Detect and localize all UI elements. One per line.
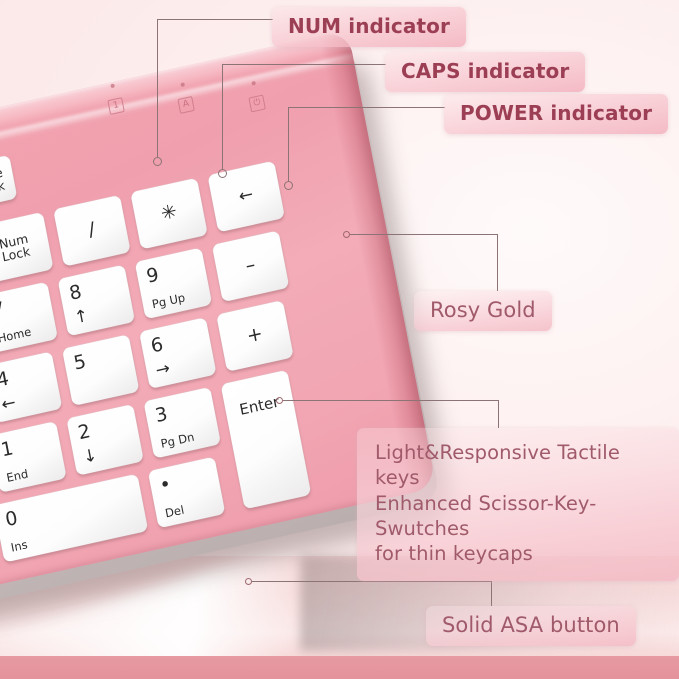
power-leader-horizontal (288, 107, 445, 108)
num-callout-marker (153, 157, 162, 166)
key-5[interactable]: 5 (62, 334, 139, 406)
num-led-dot (110, 83, 115, 88)
power-led-dot (251, 81, 256, 86)
key-label: 5 (72, 341, 133, 374)
callout-power-indicator[interactable]: POWER indicator (444, 94, 668, 134)
num-leader-horizontal (157, 19, 273, 20)
key-label: Enter (225, 391, 294, 421)
callout-num-indicator[interactable]: NUM indicator (272, 7, 466, 47)
num-leader-vertical (157, 19, 158, 157)
caps-led-dot (180, 82, 185, 87)
key-numlock[interactable]: Num Lock (0, 212, 54, 284)
key-label: ✳ (134, 195, 204, 229)
key-label: ← (211, 179, 281, 211)
bottom-color-band (0, 656, 679, 679)
key-1-end[interactable]: 1 End (0, 421, 67, 493)
rosy-gold-leader-vertical (497, 234, 498, 291)
key-label: – (215, 248, 285, 282)
key-plus[interactable]: + (216, 300, 293, 372)
tactile-keys-leader-horizontal (283, 400, 498, 401)
solid-asa-leader-vertical (491, 581, 492, 606)
key-sublabel: Home (0, 320, 57, 345)
key-label: 9 (145, 254, 206, 287)
key-sublabel: Pg Up (151, 286, 211, 311)
key-label: Pause Break (0, 164, 16, 202)
key-enter[interactable]: Enter (221, 370, 312, 509)
callout-rosy-gold[interactable]: Rosy Gold (414, 291, 552, 331)
key-label: / (57, 213, 127, 247)
power-leader-vertical (288, 107, 289, 181)
key-7-home[interactable]: 7 Home (0, 282, 58, 354)
key-label: 3 (154, 394, 215, 427)
product-callout-image: d en Pause Break Delete Num Lock / ✳ ← (0, 0, 679, 679)
caps-callout-marker (218, 169, 227, 178)
callout-tactile-keys[interactable]: Light&Responsive Tactile keys Enhanced S… (357, 428, 679, 581)
key-multiply[interactable]: ✳ (130, 178, 207, 250)
key-sublabel: Del (164, 495, 224, 520)
tactile-keys-callout-marker (276, 397, 283, 404)
key-label: 1 (0, 428, 61, 461)
key-period-del[interactable]: • Del (148, 457, 225, 529)
callout-caps-indicator[interactable]: CAPS indicator (385, 52, 585, 92)
key-label: 7 (0, 289, 52, 322)
rosy-gold-callout-marker (343, 231, 350, 238)
tactile-keys-leader-vertical (498, 400, 499, 428)
key-label: + (220, 318, 290, 352)
key-divide[interactable]: / (53, 195, 130, 267)
key-sublabel: Pg Dn (160, 425, 220, 450)
rosy-gold-leader-horizontal (350, 234, 498, 235)
num-led-icon: 1 (107, 97, 125, 115)
key-3-pgdn[interactable]: 3 Pg Dn (144, 387, 221, 459)
key-label: Num Lock (0, 228, 51, 269)
caps-leader-vertical (222, 64, 223, 169)
key-sublabel: End (5, 459, 65, 484)
power-callout-marker (284, 181, 293, 190)
caps-leader-horizontal (222, 64, 386, 65)
callout-solid-asa[interactable]: Solid ASA button (426, 606, 636, 646)
key-pause-break[interactable]: Pause Break (0, 155, 17, 210)
caps-led-icon: A (177, 96, 195, 114)
power-led-icon: ⏻ (248, 95, 266, 113)
key-6-right[interactable]: 6 → (139, 317, 216, 389)
solid-asa-leader-horizontal (252, 581, 492, 582)
key-8-up[interactable]: 8 ↑ (58, 265, 135, 337)
key-label: • (158, 464, 219, 497)
key-minus[interactable]: – (212, 230, 289, 302)
key-2-down[interactable]: 2 ↓ (66, 404, 143, 476)
key-9-pgup[interactable]: 9 Pg Up (135, 248, 212, 320)
solid-asa-callout-marker (245, 578, 252, 585)
key-4-left[interactable]: 4 ← (0, 351, 62, 423)
